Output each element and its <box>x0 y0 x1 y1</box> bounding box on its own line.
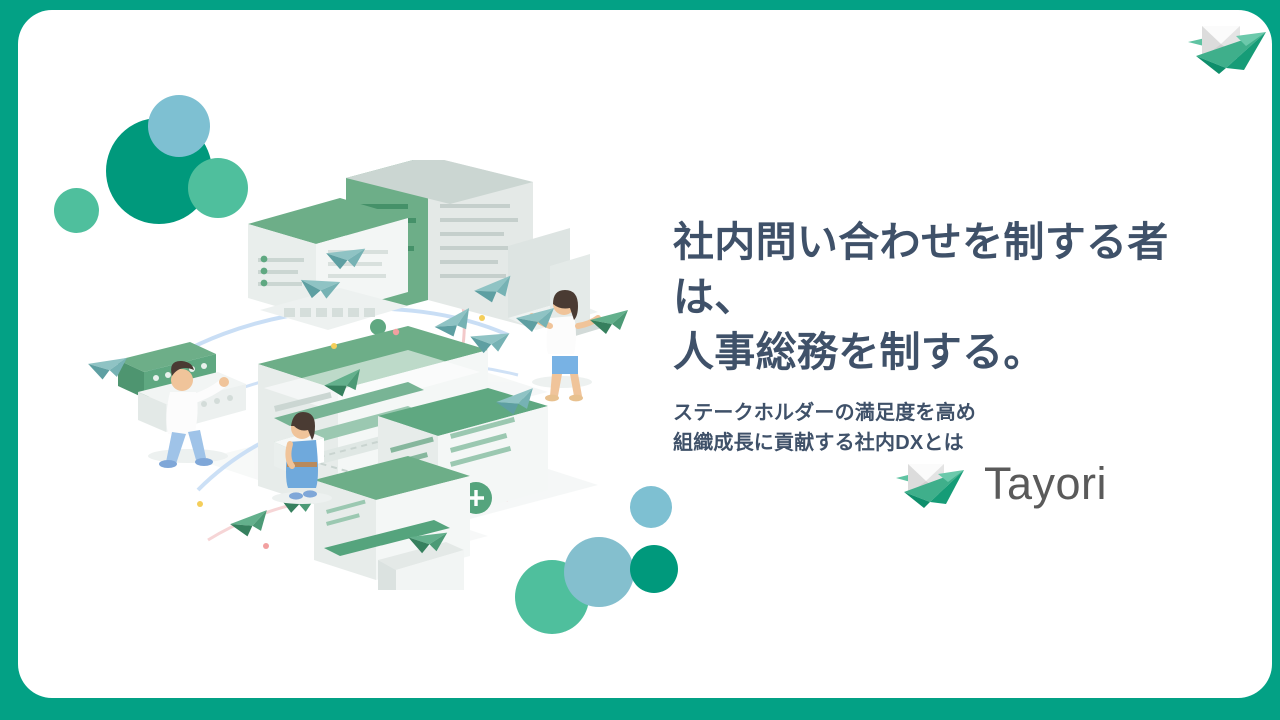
isometric-illustration <box>78 160 658 590</box>
tayori-wordmark: Tayori <box>984 461 1107 506</box>
subhead: ステークホルダーの満足度を高め 組織成長に貢献する社内DXとは <box>673 398 1233 458</box>
tayori-corner-mark-icon <box>1186 14 1268 80</box>
tayori-logo-lockup: Tayori <box>894 452 1107 514</box>
circle-top-left-blue <box>148 95 210 157</box>
tayori-logo-icon <box>894 452 966 514</box>
slide-card: 社内問い合わせを制する者は、 人事総務を制する。 ステークホルダーの満足度を高め… <box>18 10 1272 698</box>
slide-root: 社内問い合わせを制する者は、 人事総務を制する。 ステークホルダーの満足度を高め… <box>0 0 1280 720</box>
text-block: 社内問い合わせを制する者は、 人事総務を制する。 ステークホルダーの満足度を高め… <box>673 215 1233 458</box>
headline: 社内問い合わせを制する者は、 人事総務を制する。 <box>673 215 1233 380</box>
